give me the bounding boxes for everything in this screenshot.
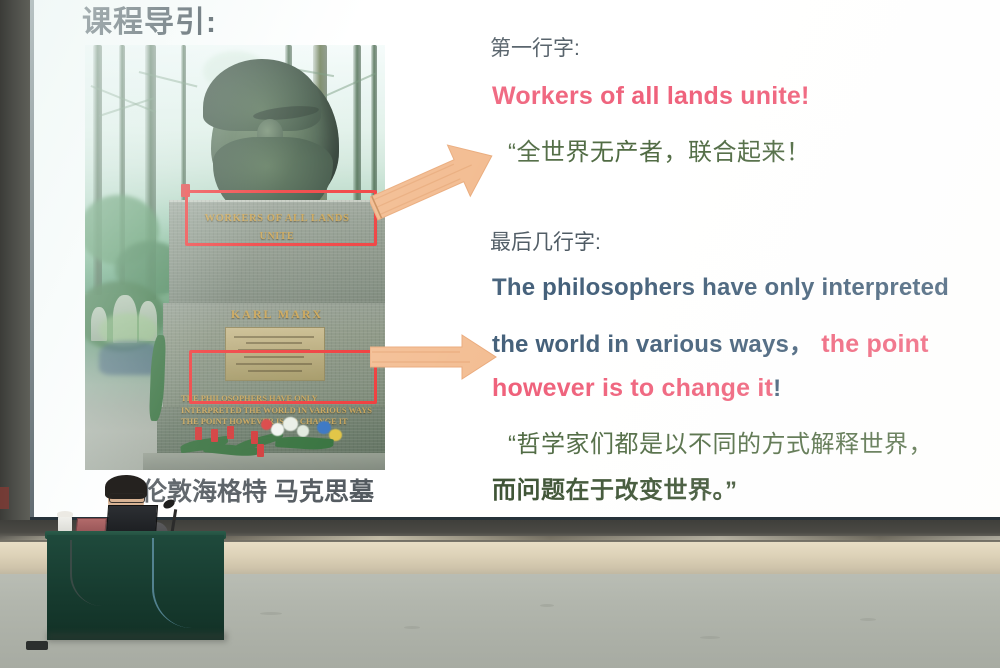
- english-philosophers-line2: the world in various ways，the point: [492, 324, 929, 359]
- teacup-lid: [57, 511, 73, 517]
- flower: [271, 423, 284, 436]
- inscription-karl-marx: KARL MARX: [177, 307, 377, 322]
- tree-trunk: [181, 45, 186, 205]
- flower: [297, 425, 309, 437]
- english-philosophers-line1: The philosophers have only interpreted: [492, 274, 949, 302]
- photo-caption: 伦敦海格特 马克思墓: [142, 472, 374, 508]
- wall-left-dark-panel: [0, 0, 30, 540]
- label-last-lines: 最后几行字:: [490, 230, 601, 255]
- memorial-candle: [251, 431, 258, 444]
- arrow-to-last-lines: [370, 333, 500, 381]
- memorial-candle: [211, 429, 218, 442]
- chinese-workers-unite: “全世界无产者，联合起来！: [508, 132, 811, 167]
- english-philosophers-line2-navy: the world in various ways，: [492, 331, 813, 358]
- marx-grave-photo: WORKERS OF ALL LANDS UNITE KARL MARX THE…: [85, 45, 385, 470]
- english-change-it-tail: !: [773, 375, 781, 402]
- flower: [283, 417, 298, 431]
- lecturer-glasses: [109, 493, 145, 503]
- english-philosophers-line3: however is to change it!: [492, 374, 781, 403]
- slide-left-edge: [30, 0, 34, 520]
- label-first-line: 第一行字:: [490, 36, 580, 61]
- annotation-box-workers: [185, 190, 377, 246]
- memorial-candle: [227, 426, 234, 439]
- chinese-philosophers-line1: “哲学家们都是以不同的方式解释世界，: [508, 424, 933, 459]
- monument-base: [143, 453, 385, 470]
- memorial-candle: [257, 444, 264, 457]
- memorial-candle: [195, 427, 202, 440]
- desk-shadow: [47, 632, 227, 642]
- floor-power-adapter: [26, 641, 48, 650]
- english-workers-unite: Workers of all lands unite!: [492, 82, 810, 111]
- chinese-philosophers-line2: 而问题在于改变世界。”: [492, 470, 738, 505]
- english-change-it: however is to change it: [492, 374, 773, 402]
- flower: [261, 419, 272, 430]
- projected-slide: 课程导引:: [30, 0, 1000, 520]
- arrow-to-first-line: [370, 118, 520, 222]
- wall-red-marker: [0, 487, 9, 509]
- annotation-box-philosophers: [189, 350, 377, 404]
- english-the-point: the point: [821, 330, 928, 358]
- lecture-hall-scene: 课程导引:: [0, 0, 1000, 668]
- slide-title: 课程导引:: [82, 0, 217, 41]
